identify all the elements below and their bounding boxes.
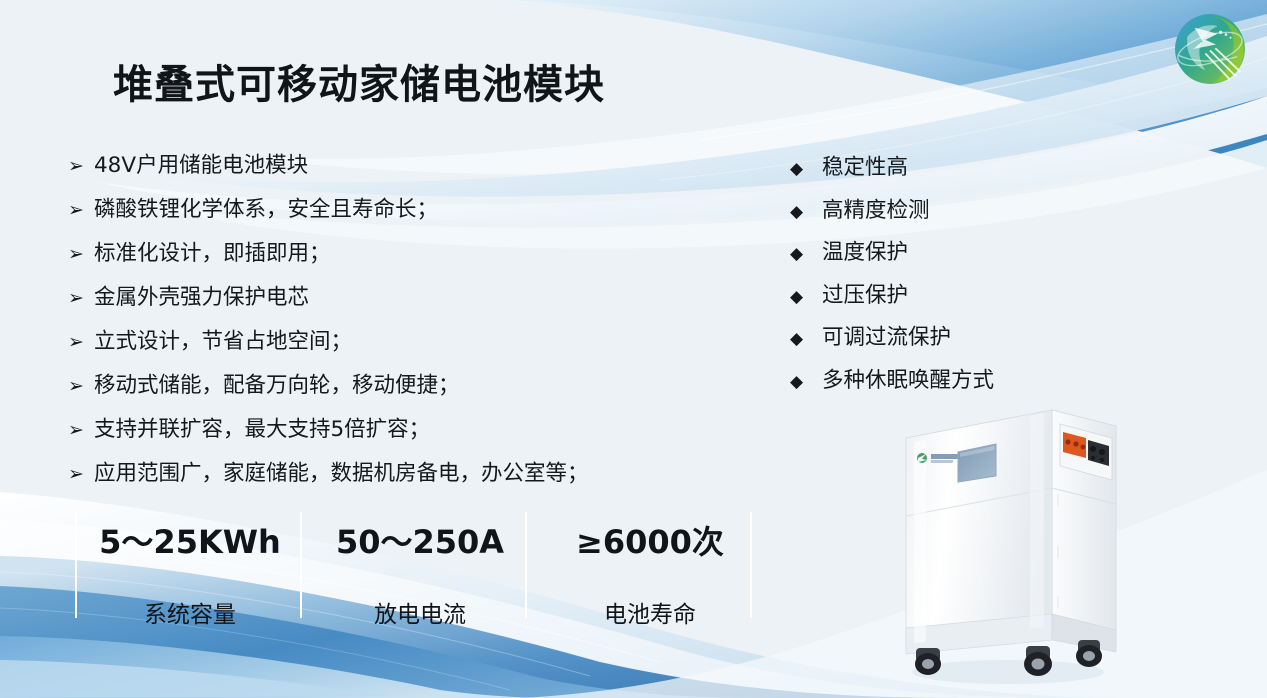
spec-label: 系统容量	[75, 595, 305, 629]
list-item: ➢ 磷酸铁锂化学体系，安全且寿命长；	[68, 192, 708, 236]
arrow-bullet-icon: ➢	[68, 245, 94, 264]
feature-list-left: ➢ 48V户用储能电池模块 ➢ 磷酸铁锂化学体系，安全且寿命长； ➢ 标准化设计…	[68, 148, 708, 500]
spec-value: 50〜250A	[305, 517, 535, 563]
list-item: ➢ 标准化设计，即插即用；	[68, 236, 708, 280]
spec-item-cycle-life: ≥6000次 电池寿命	[535, 505, 765, 620]
diamond-bullet-icon: ◆	[790, 246, 822, 263]
arrow-bullet-icon: ➢	[68, 157, 94, 176]
home-battery-cabinet-image	[880, 396, 1130, 691]
list-item: ◆ 过压保护	[790, 278, 1090, 321]
list-item-label: 可调过流保护	[822, 320, 951, 351]
spec-highlights: 5〜25KWh 系统容量 50〜250A 放电电流 ≥6000次 电池寿命	[75, 505, 765, 620]
spec-value: 5〜25KWh	[75, 517, 305, 563]
arrow-bullet-icon: ➢	[68, 333, 94, 352]
arrow-bullet-icon: ➢	[68, 201, 94, 220]
list-item-label: 应用范围广，家庭储能，数据机房备电，办公室等；	[94, 456, 589, 487]
list-item-label: 标准化设计，即插即用；	[94, 236, 331, 267]
list-item-label: 稳定性高	[822, 150, 908, 181]
list-item: ➢ 支持并联扩容，最大支持5倍扩容；	[68, 412, 708, 456]
spec-divider	[525, 512, 527, 618]
spec-item-capacity: 5〜25KWh 系统容量	[75, 505, 305, 620]
list-item: ◆ 可调过流保护	[790, 320, 1090, 363]
spec-item-current: 50〜250A 放电电流	[305, 505, 535, 620]
spec-label: 电池寿命	[535, 595, 765, 629]
diamond-bullet-icon: ◆	[790, 161, 822, 178]
list-item-label: 过压保护	[822, 278, 908, 309]
diamond-bullet-icon: ◆	[790, 204, 822, 221]
diamond-bullet-icon: ◆	[790, 331, 822, 348]
list-item: ➢ 立式设计，节省占地空间；	[68, 324, 708, 368]
spec-label: 放电电流	[305, 595, 535, 629]
list-item-label: 支持并联扩容，最大支持5倍扩容；	[94, 412, 430, 443]
arrow-bullet-icon: ➢	[68, 289, 94, 308]
arrow-bullet-icon: ➢	[68, 421, 94, 440]
arrow-bullet-icon: ➢	[68, 465, 94, 484]
list-item: ◆ 稳定性高	[790, 150, 1090, 193]
list-item-label: 温度保护	[822, 235, 908, 266]
list-item-label: 48V户用储能电池模块	[94, 148, 308, 179]
page-title: 堆叠式可移动家储电池模块	[113, 52, 605, 110]
list-item: ➢ 应用范围广，家庭储能，数据机房备电，办公室等；	[68, 456, 708, 500]
list-item: ◆ 高精度检测	[790, 193, 1090, 236]
list-item-label: 磷酸铁锂化学体系，安全且寿命长；	[94, 192, 438, 223]
spec-value: ≥6000次	[535, 517, 765, 563]
list-item-label: 金属外壳强力保护电芯	[94, 280, 309, 311]
list-item: ➢ 移动式储能，配备万向轮，移动便捷；	[68, 368, 708, 412]
feature-list-right: ◆ 稳定性高 ◆ 高精度检测 ◆ 温度保护 ◆ 过压保护 ◆ 可调过流保护 ◆ …	[790, 150, 1090, 405]
spec-divider	[750, 512, 752, 618]
list-item: ◆ 温度保护	[790, 235, 1090, 278]
diamond-bullet-icon: ◆	[790, 374, 822, 391]
company-leaf-globe-logo-icon	[1172, 11, 1248, 87]
list-item-label: 立式设计，节省占地空间；	[94, 324, 352, 355]
list-item: ➢ 48V户用储能电池模块	[68, 148, 708, 192]
diamond-bullet-icon: ◆	[790, 289, 822, 306]
list-item-label: 移动式储能，配备万向轮，移动便捷；	[94, 368, 460, 399]
list-item: ➢ 金属外壳强力保护电芯	[68, 280, 708, 324]
spec-divider	[300, 512, 302, 618]
list-item-label: 多种休眠唤醒方式	[822, 363, 994, 394]
slide-canvas: 堆叠式可移动家储电池模块 ➢ 48V户用储能电池模块 ➢ 磷酸铁锂化学体系，安全…	[0, 0, 1267, 698]
arrow-bullet-icon: ➢	[68, 377, 94, 396]
list-item-label: 高精度检测	[822, 193, 930, 224]
